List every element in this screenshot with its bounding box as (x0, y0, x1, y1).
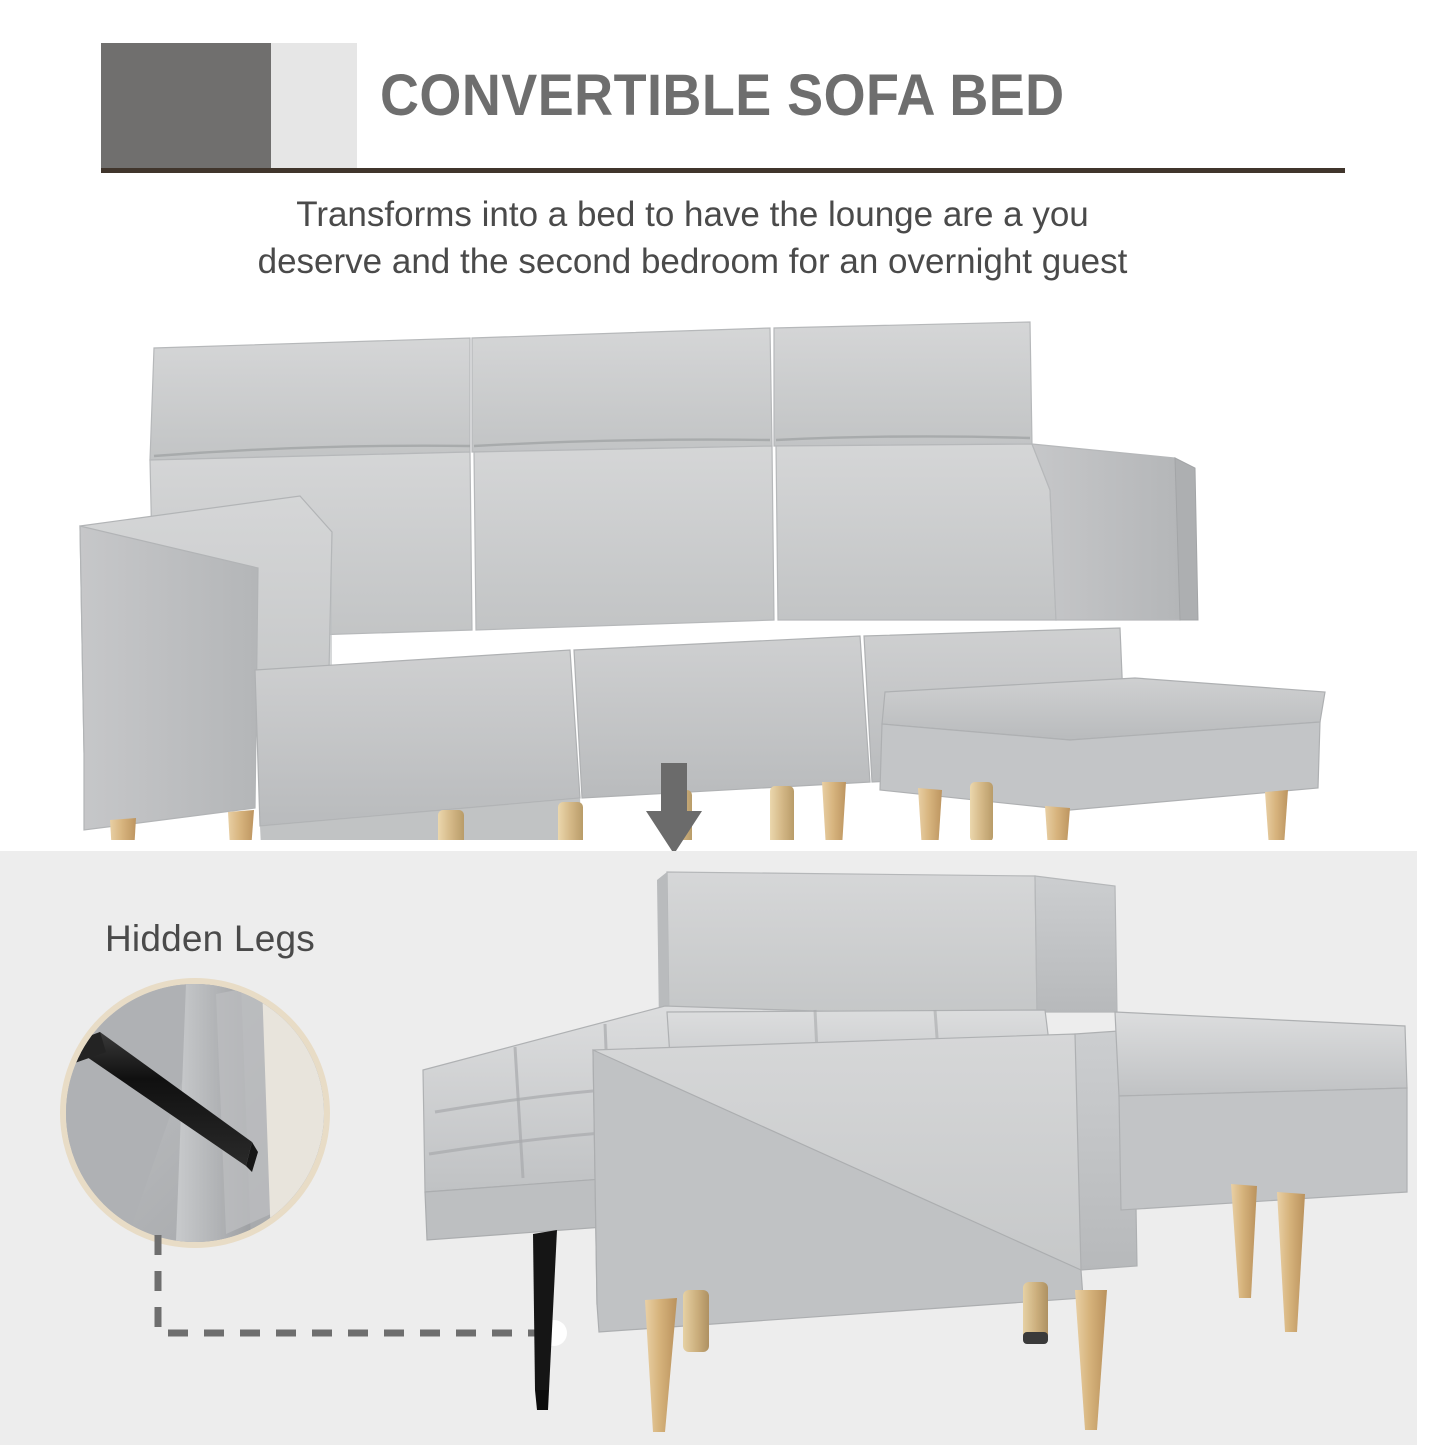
ottoman-leg (1277, 1192, 1305, 1332)
header-divider-rule (101, 168, 1345, 173)
page-title: CONVERTIBLE SOFA BED (380, 66, 1319, 127)
header-band: CONVERTIBLE SOFA BED (0, 0, 1445, 180)
sofa-three-seat-illustration (70, 320, 1380, 840)
page-subtitle-line-2: deserve and the second bedroom for an ov… (0, 239, 1385, 286)
ottoman-leg (1045, 806, 1070, 840)
ottoman-leg (1265, 790, 1288, 840)
bed-leg (1023, 1282, 1048, 1344)
bed-leg (1075, 1290, 1107, 1430)
top-product-photo (0, 300, 1445, 851)
header-swatch-light (271, 43, 357, 170)
sofa-leg (770, 786, 794, 840)
sofa-leg (822, 782, 846, 840)
hidden-legs-label: Hidden Legs (105, 918, 315, 960)
bed-leg (683, 1290, 709, 1352)
hidden-leg-closeup-illustration (66, 984, 324, 1242)
black-hidden-leg (533, 1230, 557, 1410)
down-arrow-icon (645, 763, 703, 855)
bed-leg (645, 1298, 677, 1432)
page-subtitle: Transforms into a bed to have the lounge… (0, 192, 1445, 285)
ottoman-leg (918, 788, 942, 840)
ottoman-leg (1231, 1184, 1257, 1298)
page-subtitle-line-1: Transforms into a bed to have the lounge… (0, 192, 1385, 239)
hidden-legs-detail-callout (60, 978, 330, 1248)
header-swatch-dark (101, 43, 271, 170)
sofa-leg (558, 802, 583, 840)
sofa-leg (438, 810, 464, 840)
sofa-leg (110, 818, 136, 840)
ottoman-leg (970, 782, 993, 840)
detail-circle-frame (60, 978, 330, 1248)
sofa-bed-flat-illustration (415, 862, 1415, 1432)
sofa-leg (228, 810, 254, 840)
